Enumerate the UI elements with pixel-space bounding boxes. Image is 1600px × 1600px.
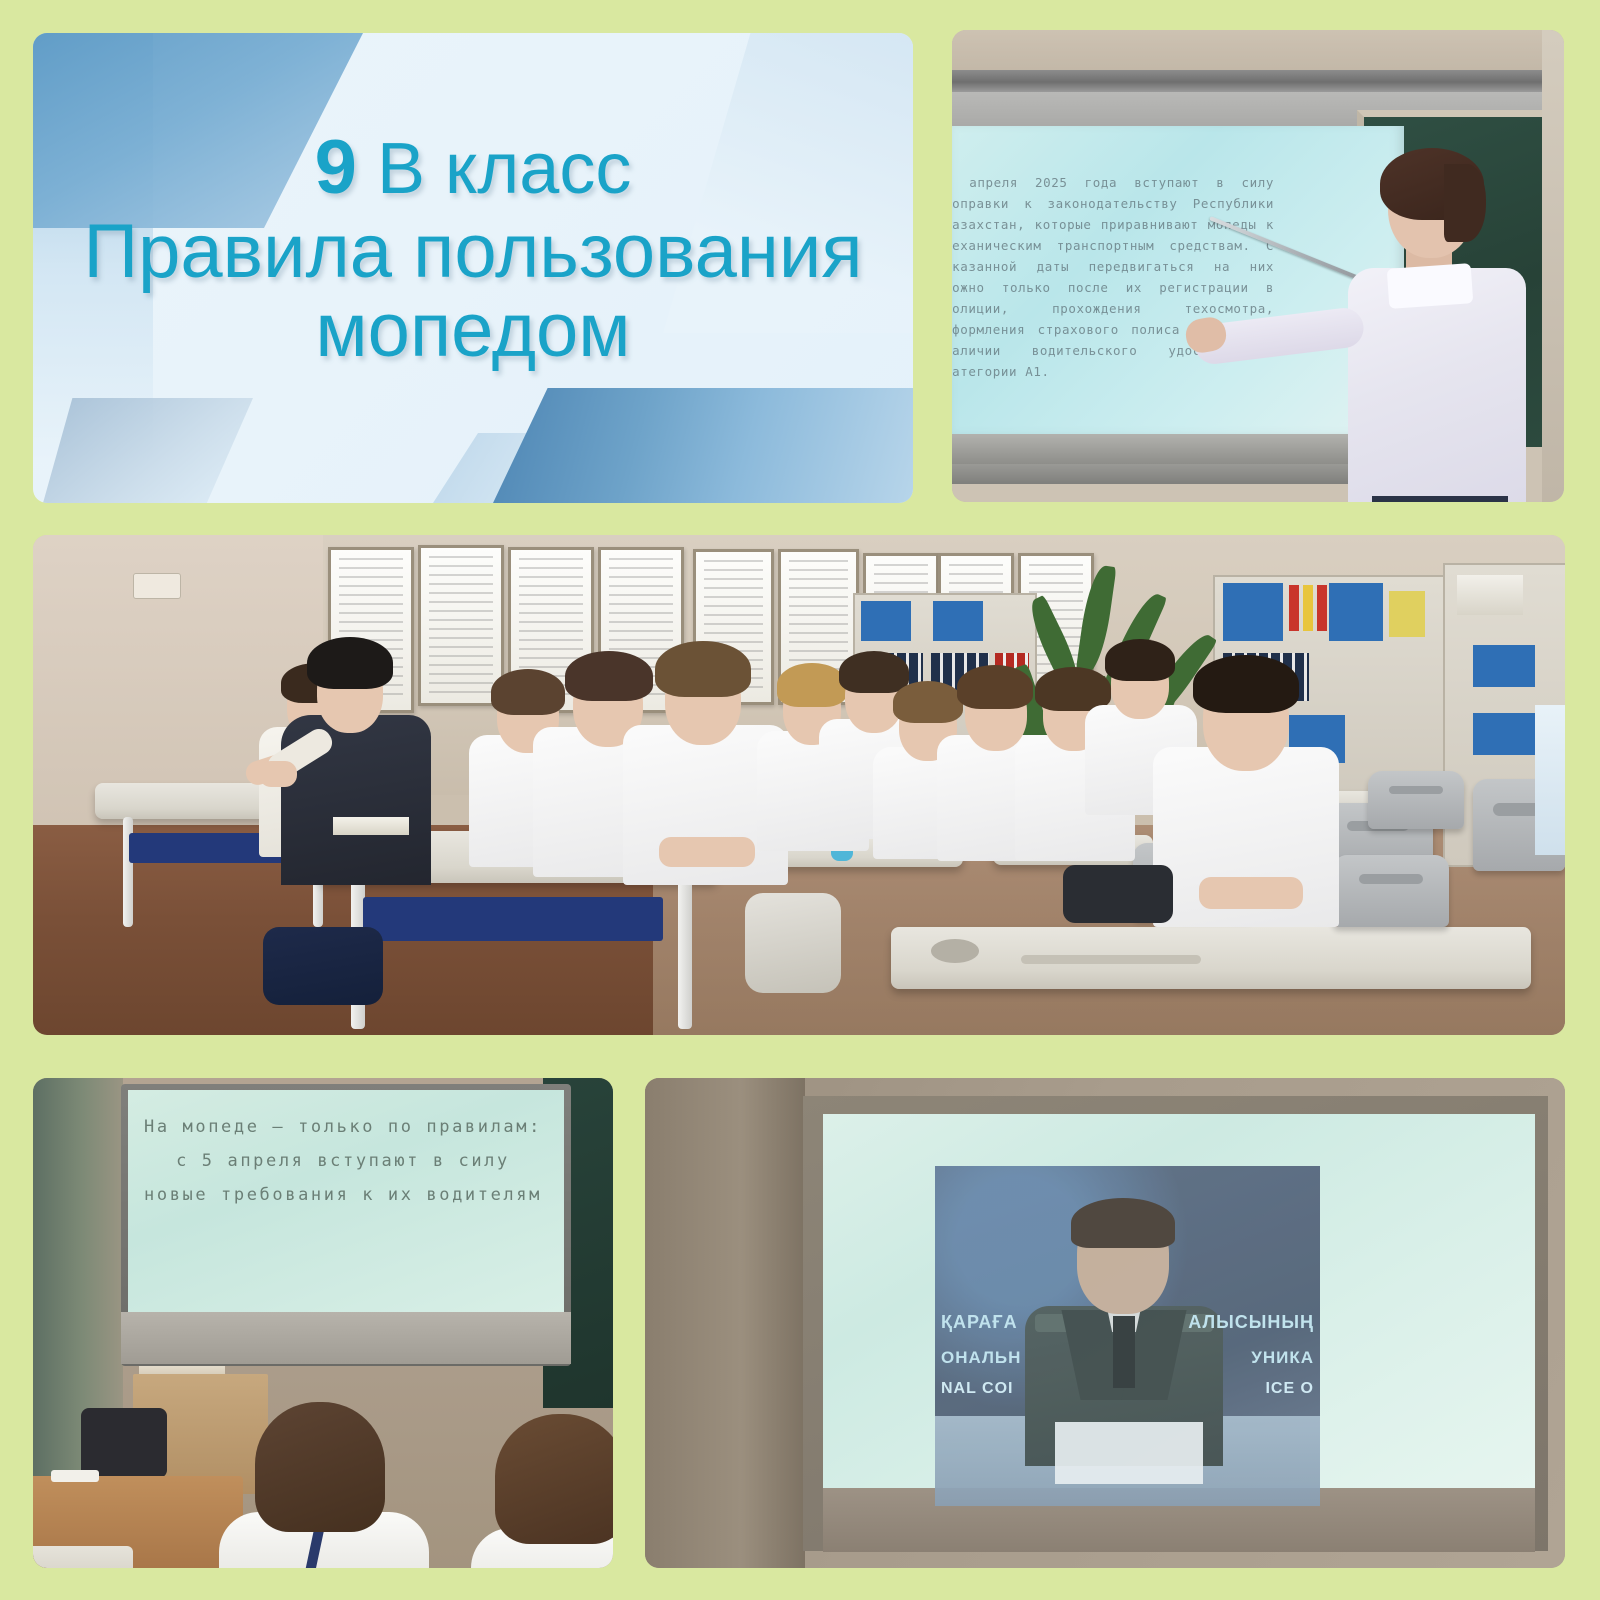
caption-en-left: NAL COI [941,1380,1013,1398]
papers-stack [1457,575,1523,615]
officer-hair [1071,1198,1175,1248]
grade-letter: В класс [377,129,631,209]
presenter-trousers [1372,496,1508,502]
remote-control [51,1470,99,1482]
classroom-students-photo [33,535,1565,1035]
wall-left-column [645,1078,805,1568]
shelf-blue-panel [1473,645,1535,687]
right-wall-strip [1542,30,1564,502]
student-back-right [471,1414,613,1568]
presenter-student [1336,148,1536,502]
student-hair [307,637,393,689]
desk-groove [1021,955,1201,964]
projection-screen-photo: На мопеде – только по правилам: с 5 апре… [33,1078,613,1568]
student-hair [255,1402,385,1532]
flag-red-2 [1317,585,1327,631]
notebook-stack [333,817,409,835]
backpack [1063,865,1173,923]
video-frame: ҚАРАҒА АЛЫСЫНЫҢ ОНАЛЬН УНИКА NAL COI ICE… [935,1166,1320,1506]
shelf-blue-panel [1329,583,1383,641]
screen-lower-panel [121,1312,571,1364]
window [1535,705,1565,855]
caption-kz-right: АЛЫСЫНЫҢ [1188,1312,1314,1333]
desk-leg [678,879,692,1029]
caption-ru-right: УНИКА [1251,1348,1314,1368]
ceiling [952,30,1564,70]
grade-number: 9 [315,125,357,210]
title-line-3: мопедом [33,292,913,370]
shelf-blue-panel [1473,713,1535,755]
student-hair [655,641,751,697]
photo-collage: 9 В класс Правила пользования мопедом 5 … [0,0,1600,1600]
shelf-blue-panel [933,601,983,641]
empty-chair [1368,771,1464,829]
black-chair [81,1408,167,1478]
title-line-2: Правила пользования [33,213,913,291]
empty-desk-foreground [891,927,1531,989]
studio-papers [1055,1422,1203,1484]
student-hand [259,761,297,787]
video-briefing-photo: ҚАРАҒА АЛЫСЫНЫҢ ОНАЛЬН УНИКА NAL COI ICE… [645,1078,1565,1568]
desk-hole [931,939,979,963]
video-caption-english: NAL COI ICE O [935,1380,1320,1398]
presenter-collar [1387,263,1474,309]
backpack [745,893,841,993]
student-back-left [219,1402,429,1568]
ceiling-rail [952,70,1564,92]
shelf-blue-panel [1223,583,1283,641]
student-hair [1193,655,1299,713]
caption-kz-left: ҚАРАҒА [941,1312,1018,1333]
student-foreground [1153,643,1343,903]
screen-slide-text: На мопеде – только по правилам: с 5 апре… [143,1110,543,1212]
student-desk-corner [33,1546,133,1568]
box-yellow [1389,591,1425,637]
backpack [263,927,383,1005]
video-caption-russian: ОНАЛЬН УНИКА [935,1348,1320,1368]
student-hands [1199,877,1303,909]
title-slide-card: 9 В класс Правила пользования мопедом [33,33,913,503]
empty-chair [1333,855,1449,927]
desk-side-panel [363,897,663,941]
student-hands [659,837,755,867]
decor-bottom-right-shape [493,388,913,503]
student-hair [495,1414,613,1544]
page-title: 9 В класс Правила пользования мопедом [33,129,913,370]
presentation-board-photo: 5 апреля 2025 года вступают в силу попра… [952,30,1564,502]
flag-red [1289,585,1299,631]
caption-en-right: ICE O [1265,1380,1314,1398]
decor-bottom-right-shape-2 [433,433,583,503]
flag-yellow [1303,585,1313,631]
video-caption-kazakh: ҚАРАҒА АЛЫСЫНЫҢ [935,1312,1320,1333]
presenter-hair-side [1444,164,1486,242]
title-line-grade: 9 В класс [33,129,913,207]
caption-ru-left: ОНАЛЬН [941,1348,1021,1368]
shelf-blue-panel [861,601,911,641]
light-switch [133,573,181,599]
decor-bottom-left-shape [43,398,253,503]
